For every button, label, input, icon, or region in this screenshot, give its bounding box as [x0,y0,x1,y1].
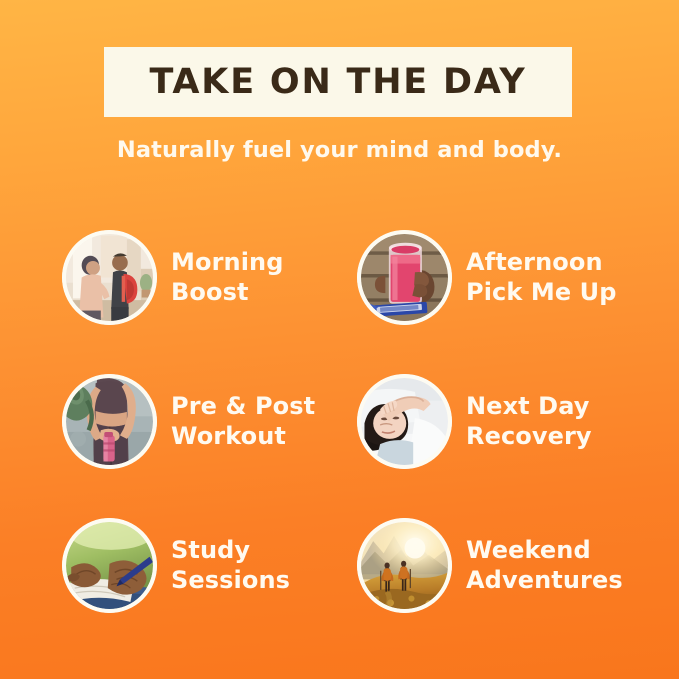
page-title: TAKE ON THE DAY [149,65,526,100]
benefit-item-weekend-adventures: Weekend Adventures [357,493,622,638]
benefit-item-afternoon-pick-me-up: Afternoon Pick Me Up [357,205,622,350]
mother-and-child-photo-icon [62,230,157,325]
benefit-label: Weekend Adventures [466,536,623,595]
benefit-label: Morning Boost [171,248,284,307]
benefit-label: Study Sessions [171,536,290,595]
woman-with-yoga-mat-photo-icon [62,374,157,469]
benefit-label: Next Day Recovery [466,392,592,451]
benefit-grid: Morning Boost [62,205,622,638]
hands-writing-notes-photo-icon [62,518,157,613]
benefit-item-next-day-recovery: Next Day Recovery [357,350,622,493]
woman-resting-in-bed-photo-icon [357,374,452,469]
benefit-item-morning-boost: Morning Boost [62,205,357,350]
benefit-label: Afternoon Pick Me Up [466,248,617,307]
poster-canvas: TAKE ON THE DAY Naturally fuel your mind… [0,0,679,679]
benefit-item-pre-and-post-workout: Pre & Post Workout [62,350,357,493]
benefit-item-study-sessions: Study Sessions [62,493,357,638]
pink-drink-glass-photo-icon [357,230,452,325]
page-subtitle: Naturally fuel your mind and body. [0,137,679,164]
hikers-on-sunlit-ridge-photo-icon [357,518,452,613]
title-banner: TAKE ON THE DAY [104,47,572,117]
benefit-label: Pre & Post Workout [171,392,315,451]
